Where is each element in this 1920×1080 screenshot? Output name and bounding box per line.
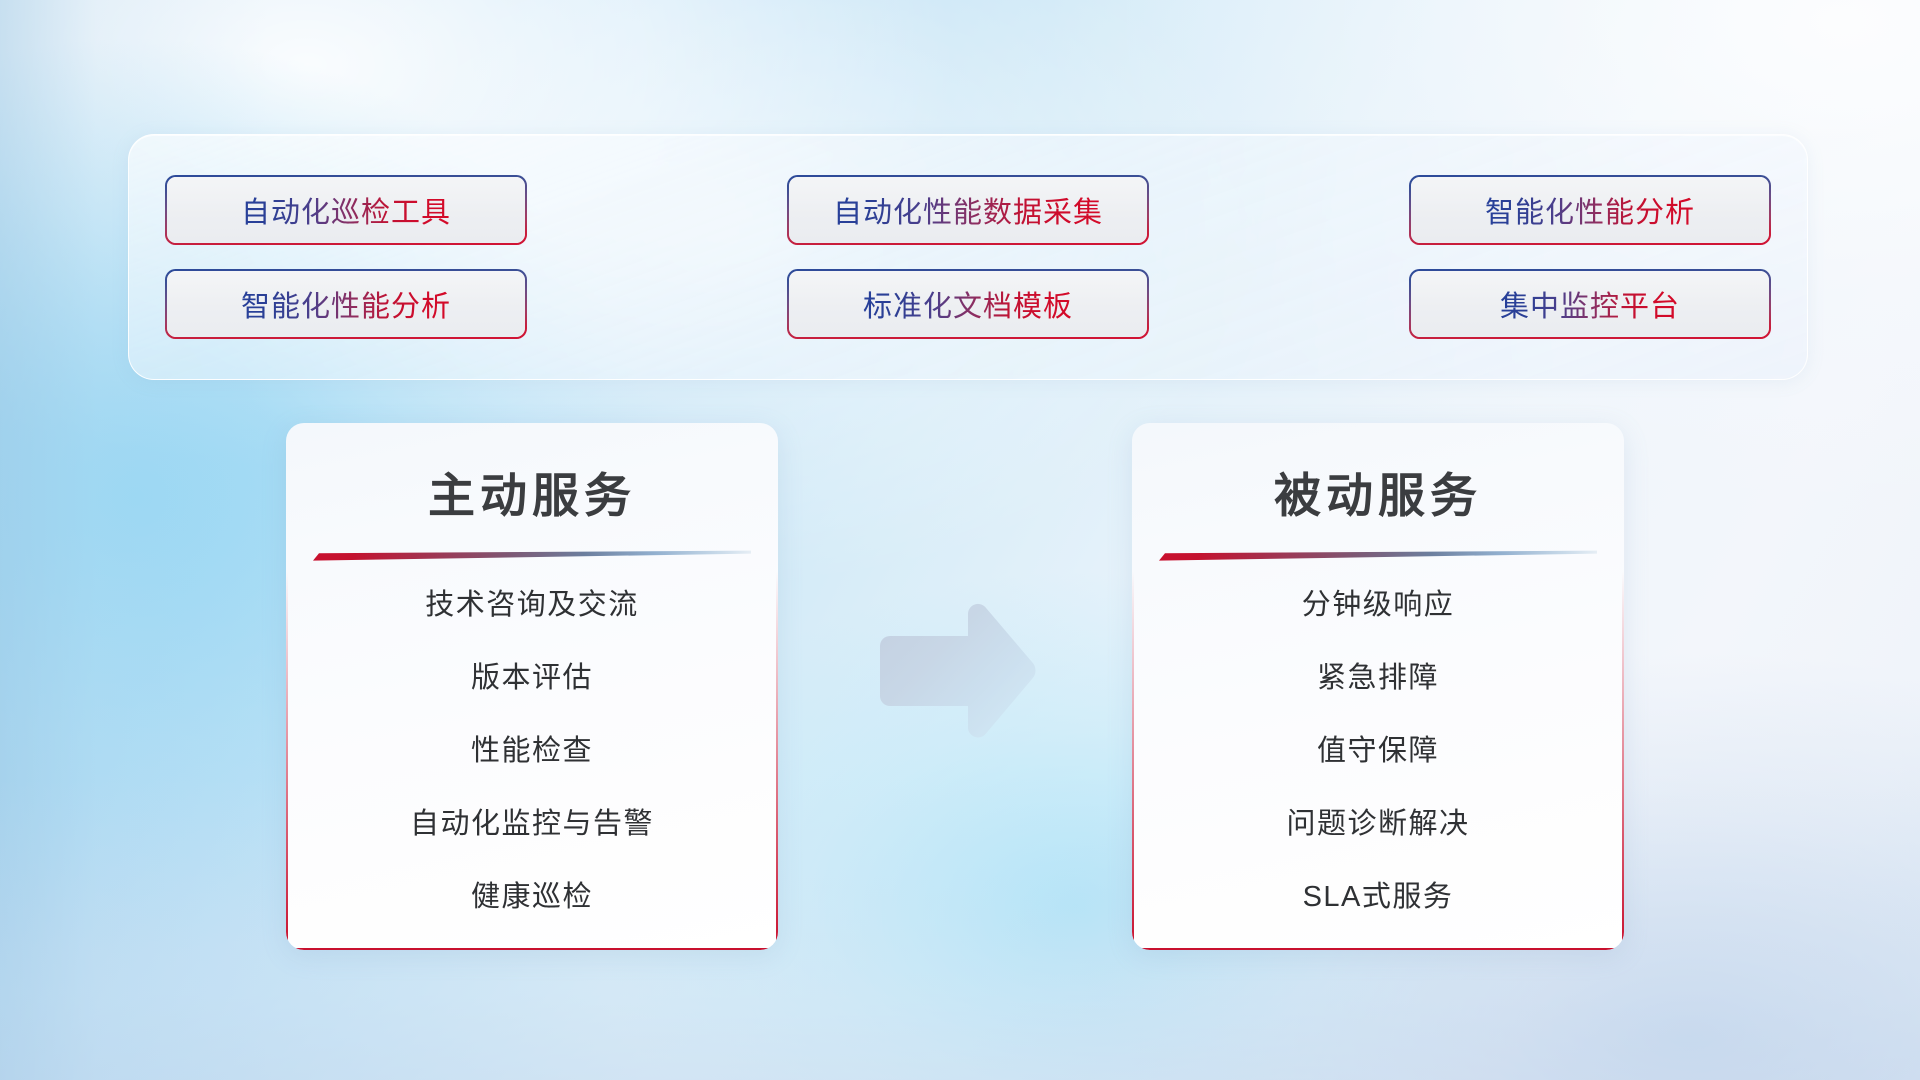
title-underline-gradient xyxy=(1159,550,1597,561)
card-edge-bottom xyxy=(1132,948,1624,950)
capability-pill-automation-inspection-tool[interactable]: 自动化巡检工具 xyxy=(167,177,525,243)
list-item: 健康巡检 xyxy=(471,883,593,912)
pill-surface: 自动化巡检工具 xyxy=(167,177,525,243)
capability-pill-centralized-monitoring-platform[interactable]: 集中监控平台 xyxy=(1411,271,1769,337)
capabilities-panel: 自动化巡检工具 自动化性能数据采集 智能化性能分析 智能化性能分析 xyxy=(128,134,1808,380)
capabilities-row-1: 自动化巡检工具 自动化性能数据采集 智能化性能分析 xyxy=(167,177,1769,243)
list-item: SLA式服务 xyxy=(1303,883,1454,912)
list-item: 性能检查 xyxy=(471,737,593,766)
pill-surface: 集中监控平台 xyxy=(1411,271,1769,337)
list-item: 分钟级响应 xyxy=(1302,591,1455,620)
list-item: 问题诊断解决 xyxy=(1286,810,1469,839)
capability-label: 集中监控平台 xyxy=(1500,283,1680,325)
capability-label: 自动化性能数据采集 xyxy=(833,189,1103,231)
pill-surface: 智能化性能分析 xyxy=(167,271,525,337)
capabilities-row-2: 智能化性能分析 标准化文档模板 集中监控平台 xyxy=(167,271,1769,337)
capability-pill-standard-document-template[interactable]: 标准化文档模板 xyxy=(789,271,1147,337)
list-item: 紧急排障 xyxy=(1317,664,1439,693)
pill-surface: 标准化文档模板 xyxy=(789,271,1147,337)
capability-label: 自动化巡检工具 xyxy=(241,189,451,231)
service-list-reactive: 分钟级响应 紧急排障 值守保障 问题诊断解决 SLA式服务 xyxy=(1132,591,1624,912)
card-title: 主动服务 xyxy=(286,457,778,526)
list-item: 值守保障 xyxy=(1317,737,1439,766)
service-card-reactive[interactable]: 被动服务 分钟级响应 xyxy=(1132,423,1624,950)
pill-surface: 自动化性能数据采集 xyxy=(789,177,1147,243)
service-list-proactive: 技术咨询及交流 版本评估 性能检查 自动化监控与告警 健康巡检 xyxy=(286,591,778,912)
capability-pill-automation-performance-collection[interactable]: 自动化性能数据采集 xyxy=(789,177,1147,243)
pill-surface: 智能化性能分析 xyxy=(1411,177,1769,243)
title-underline-gradient xyxy=(313,550,751,561)
capability-label: 智能化性能分析 xyxy=(241,283,451,325)
list-item: 技术咨询及交流 xyxy=(425,591,639,620)
card-title: 被动服务 xyxy=(1132,457,1624,526)
card-edge-bottom xyxy=(286,948,778,950)
capability-label: 智能化性能分析 xyxy=(1485,189,1695,231)
capability-pill-intelligent-performance-analysis[interactable]: 智能化性能分析 xyxy=(1411,177,1769,243)
capability-label: 标准化文档模板 xyxy=(863,283,1073,325)
service-card-proactive[interactable]: 主动服务 技术咨询及 xyxy=(286,423,778,950)
capability-pill-intelligent-performance-analysis-2[interactable]: 智能化性能分析 xyxy=(167,271,525,337)
diagram-canvas: 自动化巡检工具 自动化性能数据采集 智能化性能分析 智能化性能分析 xyxy=(0,0,1920,1080)
list-item: 自动化监控与告警 xyxy=(410,810,654,839)
list-item: 版本评估 xyxy=(471,664,593,693)
arrow-right-icon xyxy=(876,600,1040,746)
